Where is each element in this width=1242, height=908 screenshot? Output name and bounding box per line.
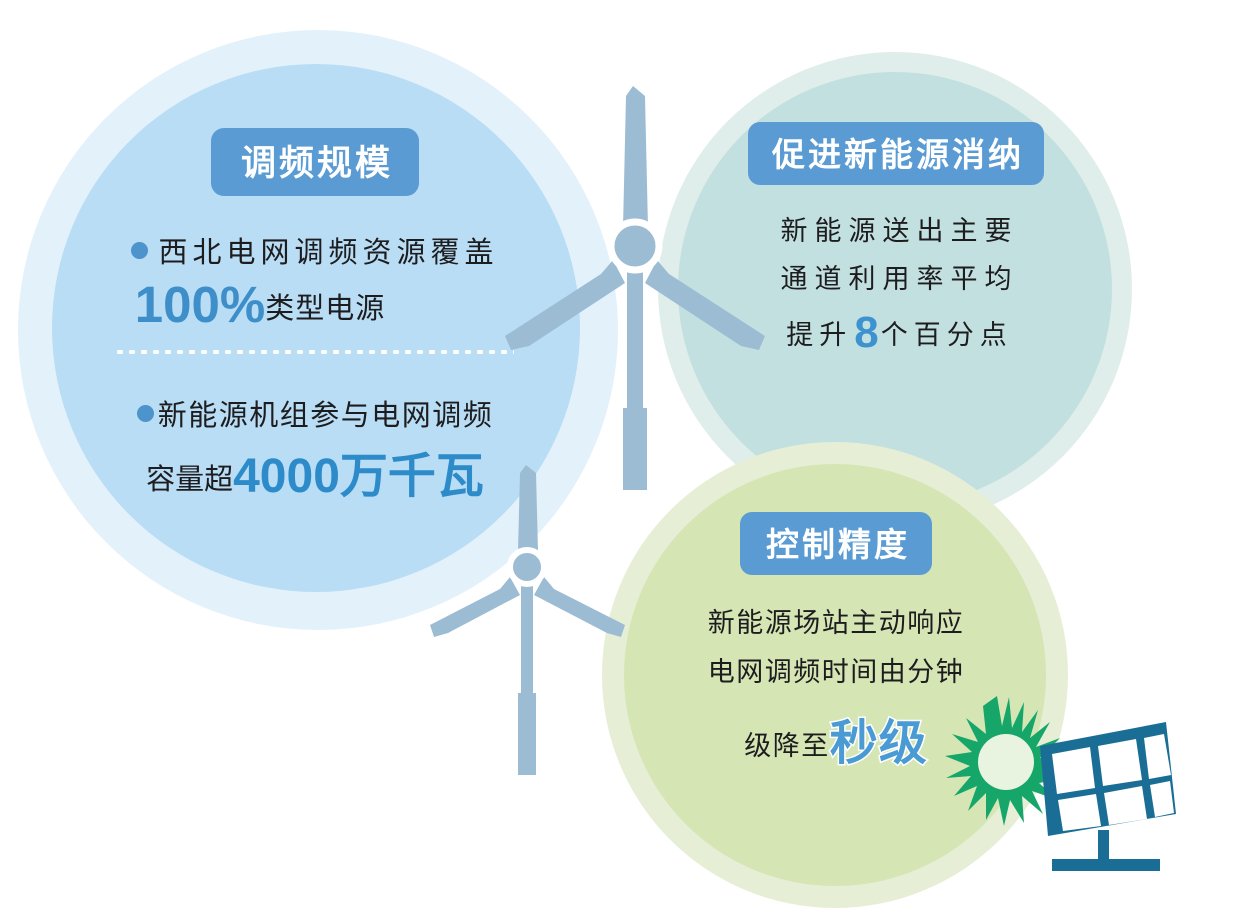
renewable-consumption-value: 8 (852, 308, 880, 357)
renewable-consumption-line-3-prefix: 提升 (786, 320, 852, 350)
bullet-item-2-value-prefix: 容量超 (146, 464, 233, 496)
renewable-consumption-line-2: 通道利用率平均 (700, 257, 1092, 296)
renewable-consumption-line-3-suffix: 个百分点 (881, 320, 1013, 350)
renewable-consumption-panel: 促进新能源消纳 新能源送出主要 通道利用率平均 提升8个百分点 (700, 122, 1092, 358)
frequency-scale-badge: 调频规模 (211, 128, 419, 196)
control-precision-line-1: 新能源场站主动响应 (640, 601, 1032, 640)
renewable-consumption-line-3: 提升8个百分点 (700, 308, 1092, 358)
bullet-item-1: 西北电网调频资源覆盖 (60, 229, 570, 271)
bullet-item-1-value: 100% (135, 276, 265, 333)
bullet-item-2-text: 新能源机组参与电网调频 (158, 392, 494, 434)
renewable-consumption-line-1: 新能源送出主要 (700, 209, 1092, 248)
bullet-item-2-value: 4000 (233, 450, 340, 503)
bullet-item-2-value-line: 容量超4000万千瓦 (60, 436, 570, 506)
renewable-consumption-badge: 促进新能源消纳 (748, 122, 1044, 185)
control-precision-badge: 控制精度 (740, 512, 932, 575)
bullet-dot-icon (137, 405, 154, 422)
control-precision-line-2: 电网调频时间由分钟 (640, 650, 1032, 689)
frequency-scale-panel: 调频规模 西北电网调频资源覆盖 100%类型电源 新能源机组参与电网调频 容量超… (60, 128, 570, 506)
bullet-item-1-value-line: 100%类型电源 (60, 275, 570, 334)
dotted-divider (114, 350, 514, 354)
bullet-item-1-value-suffix: 类型电源 (265, 293, 385, 325)
control-precision-value: 秒级 (830, 717, 928, 770)
bullet-item-2-value-suffix: 万千瓦 (340, 450, 484, 503)
control-precision-line-3: 级降至秒级 (640, 703, 1032, 773)
bullet-item-2: 新能源机组参与电网调频 (60, 392, 570, 434)
bullet-dot-icon (131, 242, 148, 259)
bullet-item-1-text: 西北电网调频资源覆盖 (158, 229, 498, 271)
control-precision-panel: 控制精度 新能源场站主动响应 电网调频时间由分钟 级降至秒级 (640, 512, 1032, 773)
infographic-canvas: 调频规模 西北电网调频资源覆盖 100%类型电源 新能源机组参与电网调频 容量超… (0, 0, 1242, 894)
control-precision-line-3-prefix: 级降至 (744, 731, 830, 761)
